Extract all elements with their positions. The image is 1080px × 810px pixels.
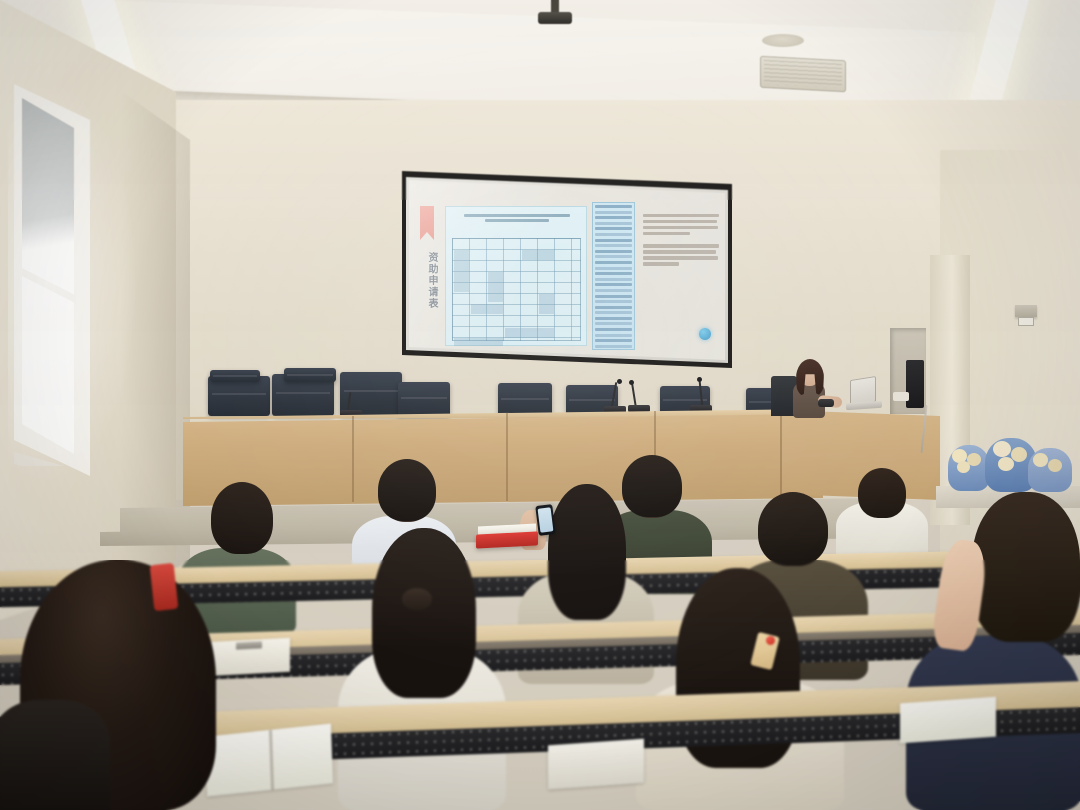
list-row	[595, 334, 632, 337]
panel-seatback	[398, 382, 450, 418]
form-cell-fill	[539, 294, 554, 314]
form-header-line	[485, 219, 549, 222]
flower-bouquet	[948, 445, 990, 491]
slide-notes	[643, 214, 719, 266]
list-row	[595, 239, 632, 242]
list-row	[595, 345, 632, 348]
note-line	[643, 232, 690, 235]
panel-seatback	[208, 376, 270, 416]
panel-headrest	[210, 370, 260, 382]
note-line	[643, 262, 679, 265]
clipboard-clip	[236, 641, 262, 649]
list-row	[595, 205, 632, 208]
form-cell-fill	[505, 328, 554, 338]
slide-badge-icon	[699, 328, 711, 340]
form-header-line	[464, 214, 571, 217]
list-row	[595, 289, 632, 292]
hair-clip-bead	[766, 636, 775, 645]
form-cell-fill	[488, 272, 503, 302]
list-row	[595, 328, 632, 331]
note-line	[643, 244, 719, 247]
attendee-hair	[211, 482, 273, 554]
slide-form-panel	[445, 206, 587, 346]
bloom	[1011, 447, 1027, 462]
wall-control-label	[1018, 317, 1034, 326]
attendee-hair	[378, 459, 436, 521]
list-row	[595, 255, 632, 258]
list-row	[595, 267, 632, 270]
note-line	[643, 256, 718, 259]
attendee-hair	[372, 528, 476, 698]
list-row	[595, 278, 632, 281]
loudspeaker-icon	[906, 360, 924, 408]
attendee-shoulder	[0, 700, 110, 810]
slide-list-panel	[592, 202, 635, 350]
list-row	[595, 244, 632, 247]
note-line	[643, 250, 716, 253]
attendee-hair	[972, 492, 1080, 642]
desk-seam	[506, 413, 508, 501]
lecture-hall-photo: 资助申请表	[0, 0, 1080, 810]
list-row	[595, 222, 632, 225]
microphone-head-icon	[697, 377, 702, 382]
slide-form-grid	[452, 238, 581, 341]
microphone-head-icon	[617, 379, 622, 384]
panel-headrest	[284, 368, 336, 382]
list-row	[595, 233, 632, 236]
list-row	[595, 261, 632, 264]
microphone-base	[628, 405, 650, 412]
attendee-hair	[758, 492, 828, 566]
flower-bouquet	[1028, 448, 1072, 492]
list-row	[595, 272, 632, 275]
form-cell-fill	[454, 250, 469, 292]
desk-seam	[352, 416, 354, 502]
attendee-hair	[858, 468, 906, 518]
attendee-hair	[622, 455, 682, 517]
desk-object	[818, 399, 834, 407]
smartphone-screen[interactable]	[538, 507, 554, 532]
list-row	[595, 322, 632, 325]
open-notebook[interactable]	[900, 697, 996, 744]
slide-form-header	[455, 214, 579, 230]
list-row	[595, 317, 632, 320]
list-row	[595, 211, 632, 214]
list-row	[595, 306, 632, 309]
form-cell-fill	[471, 304, 503, 314]
bloom	[957, 461, 970, 473]
form-cell-fill	[522, 250, 554, 260]
list-row	[595, 339, 632, 342]
bloom	[998, 457, 1014, 471]
note-paragraph	[643, 244, 719, 265]
hair-tie	[402, 588, 432, 610]
bloom	[1048, 459, 1062, 472]
bloom	[1033, 453, 1048, 467]
note-paragraph	[643, 214, 719, 235]
projected-slide: 资助申请表	[409, 180, 725, 360]
wall-control-panel	[1015, 305, 1037, 317]
microphone-head-icon	[629, 380, 634, 385]
red-hair-accessory	[150, 563, 179, 611]
note-line	[643, 220, 717, 223]
list-row	[595, 216, 632, 219]
note-line	[643, 214, 719, 217]
niche-shelf-box	[893, 392, 909, 401]
list-row	[595, 311, 632, 314]
list-row	[595, 295, 632, 298]
paper-sheet[interactable]	[548, 739, 644, 790]
bloom	[993, 441, 1011, 457]
list-row	[595, 283, 632, 286]
air-vent-icon	[760, 56, 846, 93]
list-row	[595, 250, 632, 253]
list-row	[595, 227, 632, 230]
slide-vertical-title: 资助申请表	[417, 252, 439, 310]
desk-seam	[780, 409, 782, 499]
list-row	[595, 300, 632, 303]
panel-desk	[183, 414, 823, 506]
ceiling-projector-icon	[538, 12, 572, 24]
note-line	[643, 226, 718, 229]
form-cell-fill	[454, 338, 503, 346]
smoke-detector-icon	[762, 34, 804, 47]
attendee-hair	[548, 484, 626, 620]
